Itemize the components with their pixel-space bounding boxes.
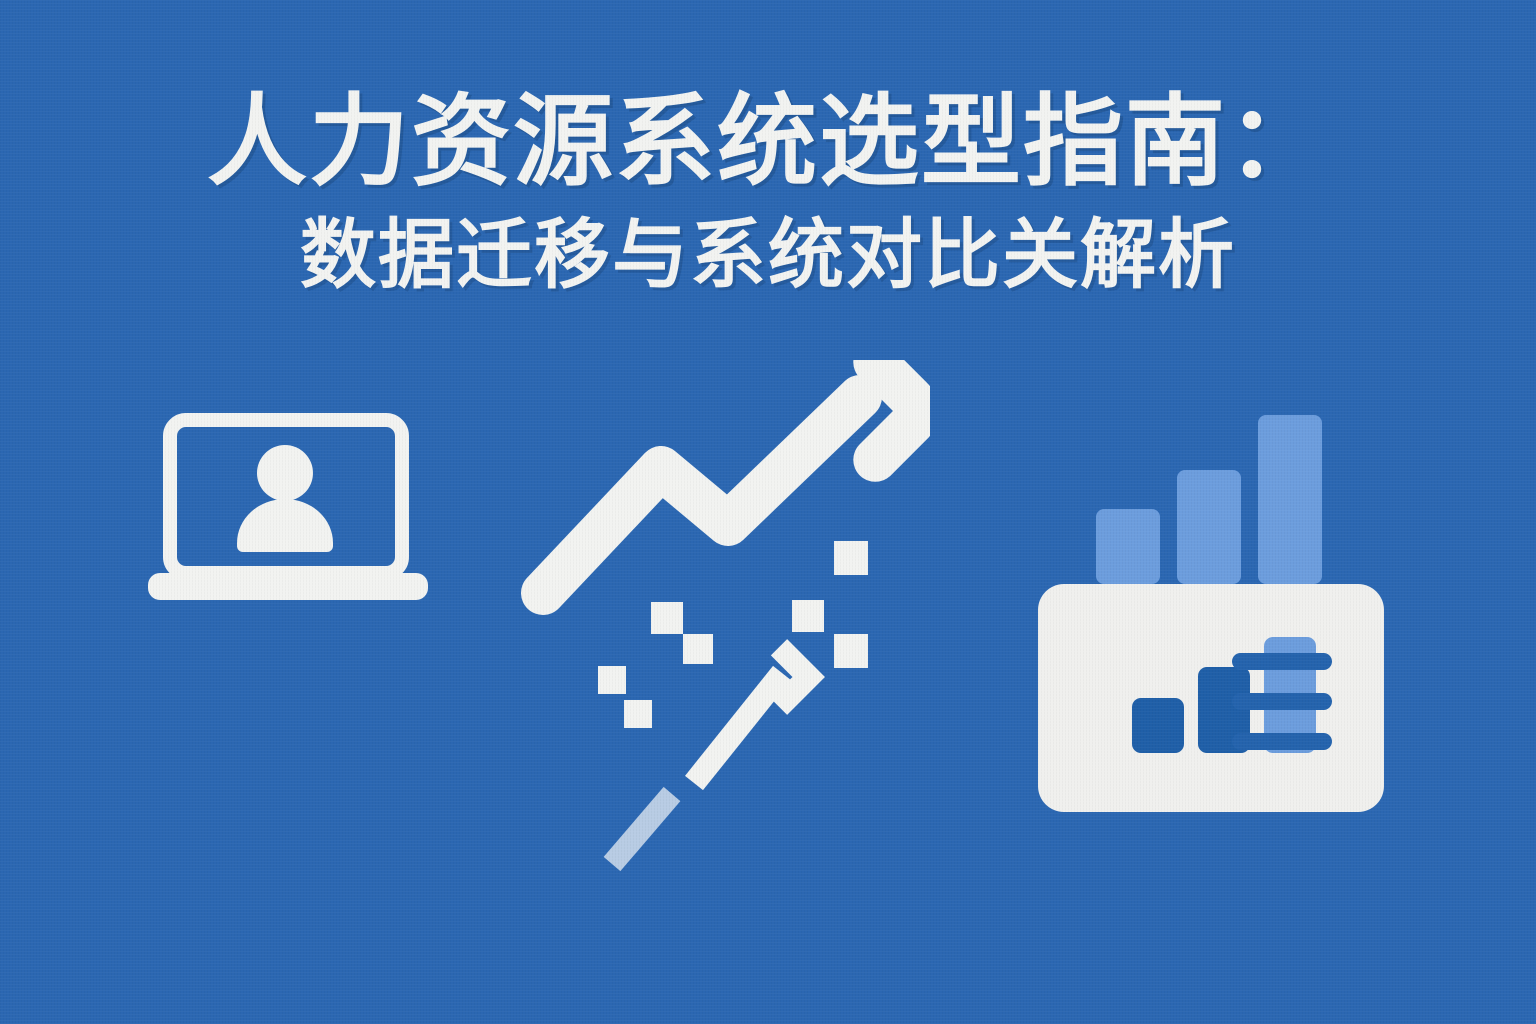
card-text-line — [1232, 733, 1332, 750]
user-body-icon — [237, 499, 333, 552]
pixel-square — [598, 666, 626, 694]
chart-card-icon — [1020, 395, 1420, 835]
outer-bar-3 — [1258, 415, 1322, 584]
pixel-square — [834, 634, 868, 668]
growth-arrow-icon — [500, 360, 930, 890]
pixel-square — [792, 600, 824, 632]
trend-polyline — [543, 397, 860, 593]
card-text-line — [1232, 653, 1332, 670]
pixel-square — [624, 700, 652, 728]
laptop-base-bar — [148, 573, 428, 600]
outer-bar-1 — [1096, 509, 1160, 584]
pixel-square — [683, 634, 713, 664]
pixel-square — [834, 541, 868, 575]
laptop-user-icon — [120, 395, 460, 625]
pixel-square — [651, 602, 683, 634]
user-head-icon — [257, 445, 313, 501]
faded-arrow-tail — [612, 794, 672, 864]
secondary-arrow-shaft — [694, 673, 782, 783]
card-text-line — [1232, 693, 1332, 710]
inner-bar-1 — [1132, 698, 1184, 753]
poster-canvas: 人力资源系统选型指南： 数据迁移与系统对比关解析 — [0, 0, 1536, 1024]
outer-bar-2 — [1177, 470, 1241, 584]
icon-row — [0, 0, 1536, 1024]
